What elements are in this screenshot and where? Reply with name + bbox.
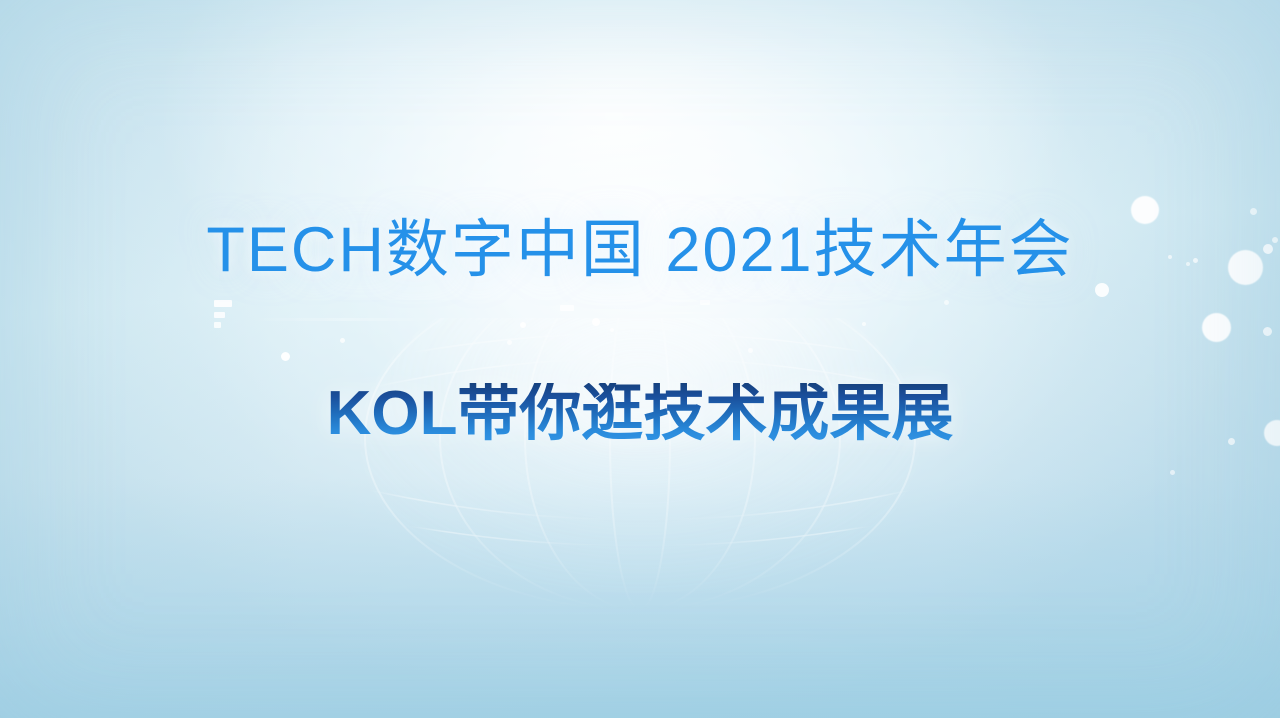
page-title: TECH数字中国 2021技术年会 [0, 219, 1280, 282]
slide-subtitle: KOL带你逛技术成果展 [0, 383, 1280, 445]
title-card-slide: TECH数字中国 2021技术年会 KOL带你逛技术成果展 [0, 0, 1280, 718]
slide-text-layer: TECH数字中国 2021技术年会 KOL带你逛技术成果展 [0, 0, 1280, 718]
